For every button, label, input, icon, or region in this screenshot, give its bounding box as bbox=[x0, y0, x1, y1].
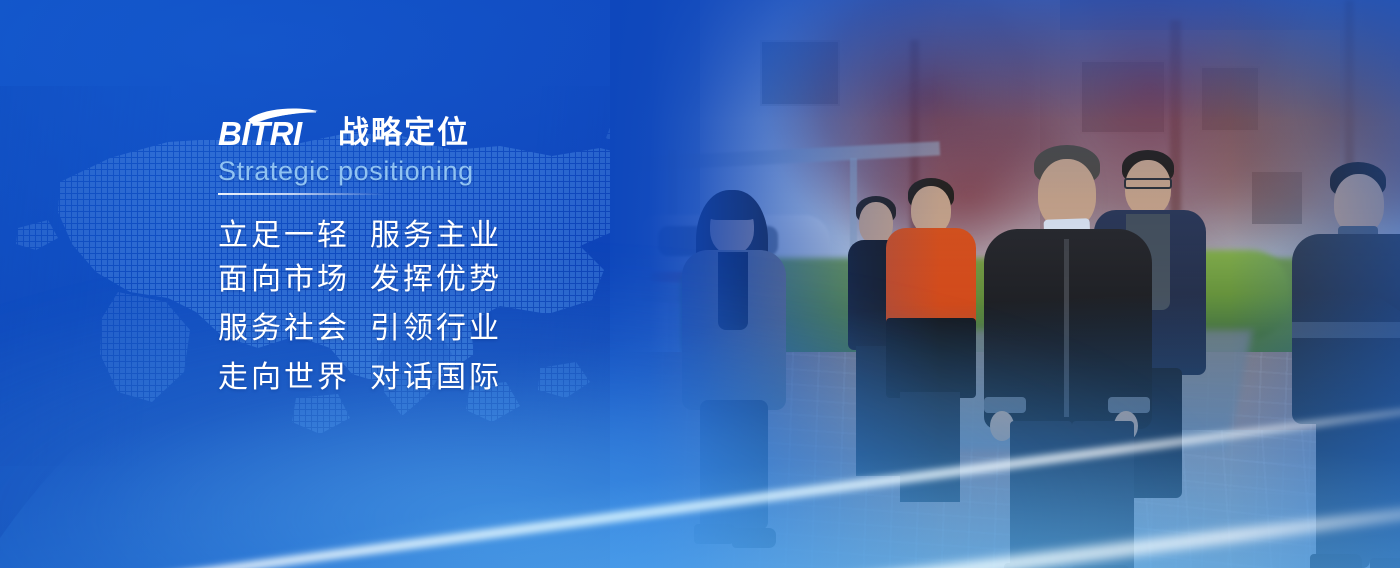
slogan-left: 面向市场 bbox=[218, 258, 350, 302]
bitri-wordmark: BITRI bbox=[218, 117, 302, 150]
strategic-positioning-banner: BITRI 战略定位 Strategic positioning 立足一轻 服务… bbox=[0, 0, 1400, 568]
slogan-right: 引领行业 bbox=[370, 307, 502, 351]
title-divider bbox=[218, 193, 386, 195]
slogan-line: 走向世界 对话国际 bbox=[218, 356, 688, 400]
slogan-list: 立足一轻 服务主业 面向市场 发挥优势 服务社会 引领行业 走向世界 对话国际 bbox=[218, 214, 688, 400]
brand-title-cn: 战略定位 bbox=[338, 118, 470, 150]
slogan-line: 服务社会 引领行业 bbox=[218, 307, 688, 351]
slogan-left: 走向世界 bbox=[218, 356, 350, 400]
photo-right-fade bbox=[1230, 0, 1400, 568]
brand-lockup: BITRI 战略定位 bbox=[218, 104, 688, 150]
slogan-right: 发挥优势 bbox=[370, 258, 502, 302]
slogan-line: 立足一轻 服务主业 bbox=[218, 214, 688, 258]
slogan-right: 服务主业 bbox=[370, 214, 502, 258]
slogan-left: 服务社会 bbox=[218, 307, 350, 351]
slogan-line: 面向市场 发挥优势 bbox=[218, 258, 688, 302]
brand-subtitle-en: Strategic positioning bbox=[218, 157, 688, 187]
slogan-left: 立足一轻 bbox=[218, 214, 350, 258]
slogan-right: 对话国际 bbox=[370, 356, 502, 400]
bitri-logo: BITRI bbox=[218, 106, 324, 150]
banner-content: BITRI 战略定位 Strategic positioning 立足一轻 服务… bbox=[218, 104, 688, 400]
